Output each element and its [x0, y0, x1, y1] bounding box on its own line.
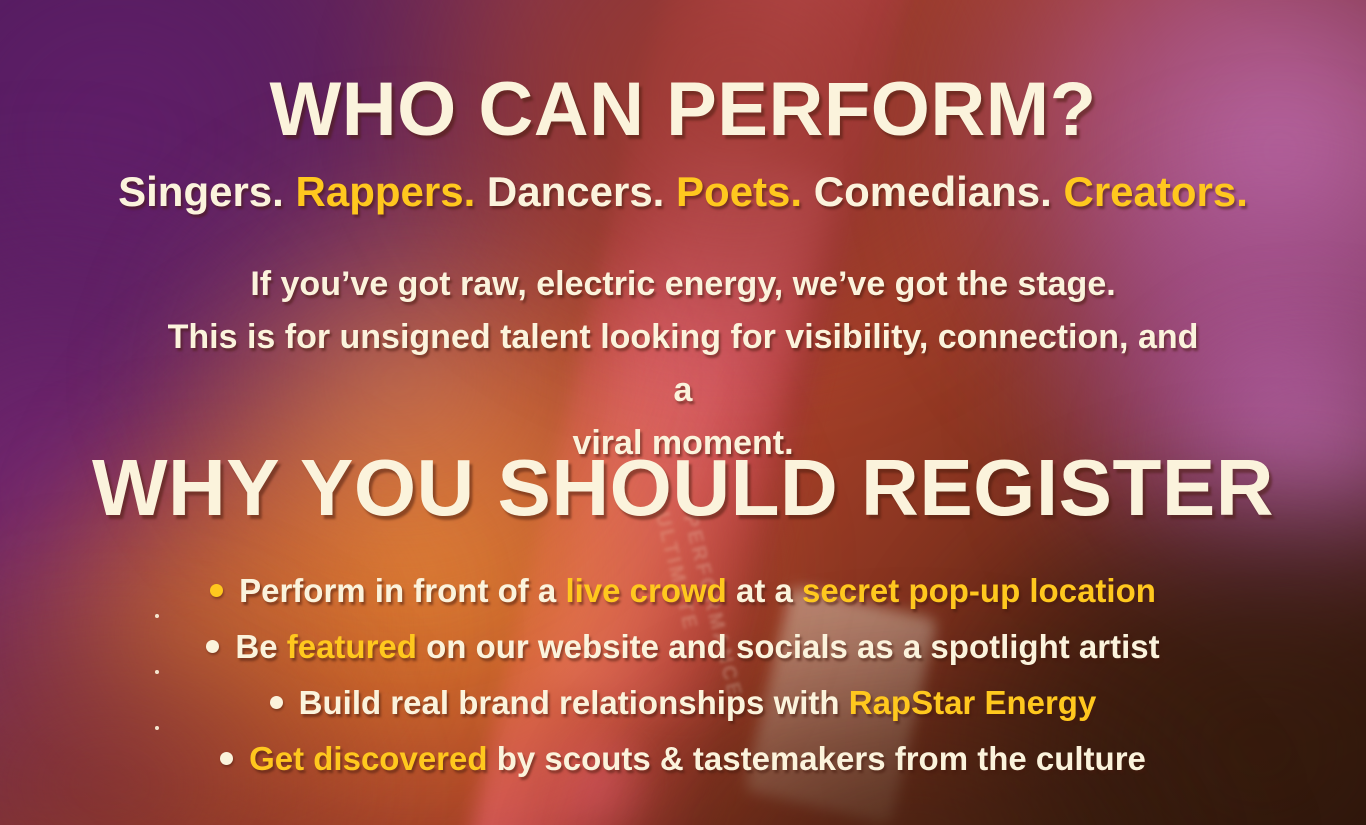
benefit-item: Be featured on our website and socials a… [0, 618, 1366, 674]
heading-who-can-perform: WHO CAN PERFORM? [0, 72, 1366, 148]
benefit-3-segment-1: by scouts & tastemakers from the culture [488, 740, 1146, 777]
benefit-2-segment-0: Build real brand relationships with [299, 684, 849, 721]
benefit-item: Build real brand relationships with RapS… [0, 674, 1366, 730]
intro-paragraph: If you’ve got raw, electric energy, we’v… [160, 258, 1206, 470]
benefit-1-segment-1: featured [287, 628, 417, 665]
performer-type-segment-4: Comedians. [814, 168, 1064, 215]
sub-bullet-marker-3 [155, 726, 159, 730]
benefit-1-segment-0: Be [235, 628, 286, 665]
promo-poster: ULTIMATE PERFORMANCE WHO CAN PERFORM? Si… [0, 0, 1366, 825]
performer-type-segment-2: Dancers. [487, 168, 676, 215]
heading-why-you-should-register: WHY YOU SHOULD REGISTER [0, 448, 1366, 528]
bullet-dot-icon [210, 584, 223, 597]
benefits-list: Perform in front of a live crowd at a se… [0, 562, 1366, 786]
benefit-text: Perform in front of a live crowd at a se… [239, 574, 1156, 607]
benefit-0-segment-3: secret pop-up location [802, 572, 1156, 609]
benefit-3-segment-0: Get discovered [249, 740, 487, 777]
sub-bullet-marker-2 [155, 670, 159, 674]
poster-content: WHO CAN PERFORM? Singers. Rappers. Dance… [0, 0, 1366, 825]
benefit-text: Build real brand relationships with RapS… [299, 686, 1097, 719]
benefit-0-segment-2: at a [727, 572, 802, 609]
bullet-dot-icon [206, 640, 219, 653]
benefit-0-segment-1: live crowd [565, 572, 726, 609]
sub-bullet-marker-1 [155, 614, 159, 618]
bullet-dot-icon [270, 696, 283, 709]
performer-type-segment-3: Poets. [676, 168, 814, 215]
benefit-0-segment-0: Perform in front of a [239, 572, 565, 609]
benefit-item: Get discovered by scouts & tastemakers f… [0, 730, 1366, 786]
performer-type-segment-0: Singers. [118, 168, 295, 215]
benefit-item: Perform in front of a live crowd at a se… [0, 562, 1366, 618]
benefit-text: Be featured on our website and socials a… [235, 630, 1159, 663]
performer-type-segment-1: Rappers. [296, 168, 487, 215]
benefit-text: Get discovered by scouts & tastemakers f… [249, 742, 1146, 775]
bullet-dot-icon [220, 752, 233, 765]
intro-line-2: This is for unsigned talent looking for … [160, 311, 1206, 417]
performer-type-segment-5: Creators. [1063, 168, 1247, 215]
benefit-1-segment-2: on our website and socials as a spotligh… [417, 628, 1160, 665]
intro-line-1: If you’ve got raw, electric energy, we’v… [160, 258, 1206, 311]
benefit-2-segment-1: RapStar Energy [849, 684, 1097, 721]
subheading-performer-types: Singers. Rappers. Dancers. Poets. Comedi… [0, 170, 1366, 215]
